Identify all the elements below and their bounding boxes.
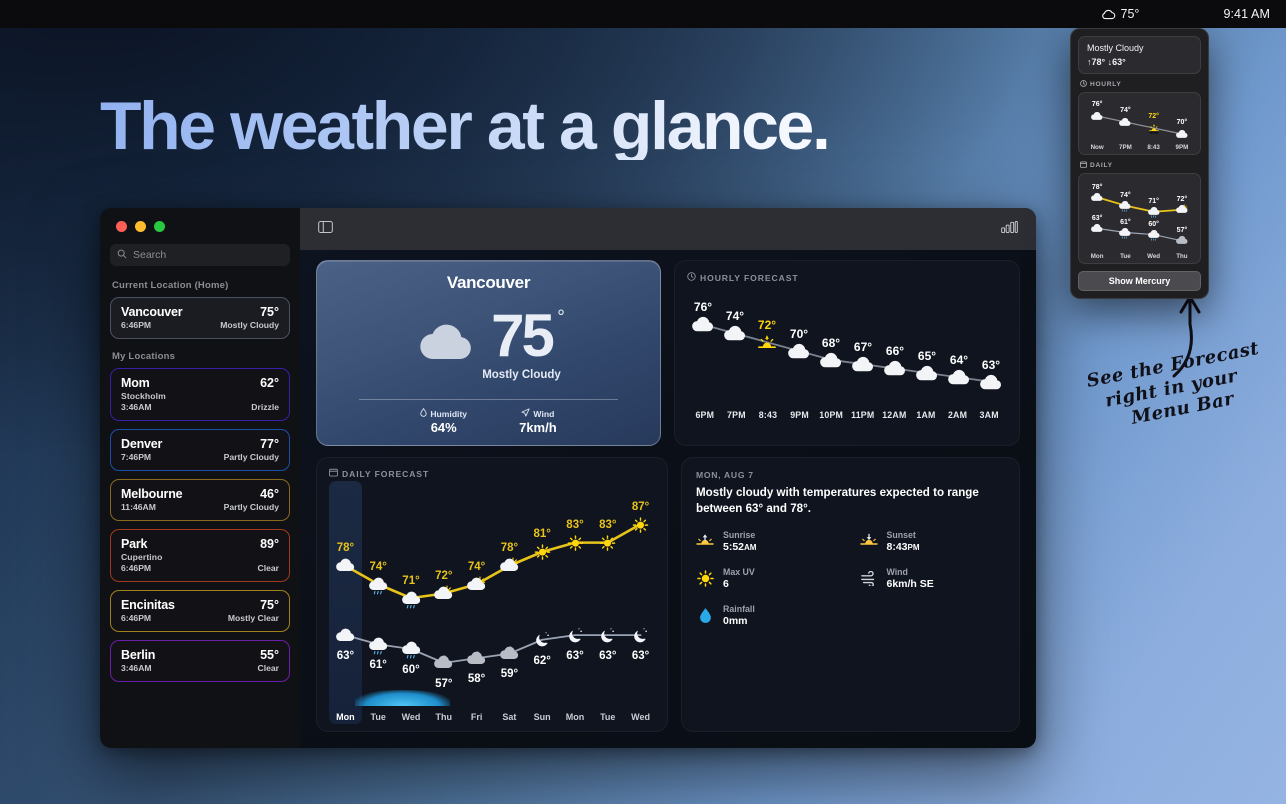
temperature-label: 70° xyxy=(1160,119,1204,126)
daily-axis-label[interactable]: Tue xyxy=(362,712,395,722)
location-condition: Mostly Clear xyxy=(228,613,279,623)
temperature-label: 78° xyxy=(489,542,529,554)
daily-axis-label[interactable]: Thu xyxy=(427,712,460,722)
widget-hourly-label: 9PM xyxy=(1168,144,1196,151)
detail-item-label: Sunrise xyxy=(723,530,756,540)
day-detail-panel: MON, AUG 7 Mostly cloudy with temperatur… xyxy=(681,457,1020,732)
weather-icon xyxy=(402,590,421,609)
weather-icon xyxy=(724,324,746,346)
widget-hourly-label: 7PM xyxy=(1111,144,1139,151)
location-condition: Clear xyxy=(258,663,280,673)
detail-item-label: Wind xyxy=(887,567,934,577)
weather-icon xyxy=(1176,129,1188,141)
weather-icon xyxy=(788,342,810,364)
location-condition: Partly Cloudy xyxy=(224,502,279,512)
weather-icon xyxy=(1091,192,1103,204)
widget-daily-card: 78°74°71°72°63°61°60°57° MonTueWedThu xyxy=(1078,173,1201,264)
hero-divider xyxy=(359,399,618,400)
weather-icon xyxy=(336,627,355,646)
sidebar-section-current: Current Location (Home) xyxy=(112,280,288,291)
weather-icon xyxy=(369,576,388,595)
wind-arrow-icon xyxy=(521,408,530,419)
page-headline: The weather at a glance. xyxy=(100,92,900,160)
hero-degree: ° xyxy=(557,308,565,327)
hourly-axis-label: 2AM xyxy=(942,410,974,420)
location-name: Encinitas xyxy=(121,598,175,612)
location-time: 3:46AM xyxy=(121,663,152,673)
daily-axis-label[interactable]: Sat xyxy=(493,712,526,722)
daily-axis-label[interactable]: Mon xyxy=(559,712,592,722)
temperature-label: 63° xyxy=(621,650,661,662)
detail-item-value: 6km/h SE xyxy=(887,578,934,590)
location-temp: 77° xyxy=(260,437,279,451)
detail-column-right: Sunset 8:43PM Wind 6km/h SE xyxy=(860,530,1006,627)
hourly-panel-title: HOURLY FORECAST xyxy=(687,272,1007,283)
location-name: Mom xyxy=(121,376,150,390)
sidebar-item-vancouver[interactable]: Vancouver 75° 6:46PM Mostly Cloudy xyxy=(110,297,290,339)
window-toolbar xyxy=(300,208,1036,250)
menubar-weather-widget: Mostly Cloudy ↑78° ↓63° HOURLY 76°74°72°… xyxy=(1070,28,1209,299)
hero-stat-wind: Wind 7km/h xyxy=(519,408,557,435)
hourly-axis-label: 8:43 xyxy=(752,410,784,420)
temperature-label: 78° xyxy=(325,542,365,554)
weather-icon xyxy=(852,355,874,377)
weather-icon xyxy=(566,627,585,646)
weather-icon xyxy=(948,368,970,390)
sidebar-section-mine: My Locations xyxy=(112,351,288,362)
temperature-label: 83° xyxy=(588,519,628,531)
cloud-icon xyxy=(1101,9,1116,20)
weather-icon xyxy=(533,631,552,650)
window-traffic-lights xyxy=(110,208,290,242)
location-name: Denver xyxy=(121,437,162,451)
location-time: 6:46PM xyxy=(121,613,151,623)
hero-condition: Mostly Cloudy xyxy=(482,369,561,381)
hero-city: Vancouver xyxy=(331,273,646,293)
temperature-label: 61° xyxy=(1111,219,1139,226)
location-temp: 46° xyxy=(260,487,279,501)
calendar-icon xyxy=(1080,161,1087,170)
sidebar-item-park[interactable]: Park 89° Cupertino 6:46PM Clear xyxy=(110,529,290,582)
daily-axis-label[interactable]: Fri xyxy=(460,712,493,722)
daily-axis-label[interactable]: Wed xyxy=(624,712,657,722)
daily-axis-label[interactable]: Wed xyxy=(395,712,428,722)
hourly-forecast-panel: HOURLY FORECAST 76°74°72°70°68°67°66°65°… xyxy=(674,260,1020,446)
daily-axis-label[interactable]: Sun xyxy=(526,712,559,722)
cloud-icon xyxy=(416,319,478,368)
daily-axis-label[interactable]: Tue xyxy=(591,712,624,722)
weather-icon xyxy=(467,576,486,595)
hero-stats: Humidity 64% Wind 7km/h xyxy=(331,408,646,435)
weather-icon xyxy=(1119,200,1131,212)
hero-temp-value: 75 xyxy=(491,302,552,369)
system-menu-bar: 75° 9:41 AM xyxy=(0,0,1286,28)
detail-item-max-uv: Max UV 6 xyxy=(696,567,842,590)
temperature-label: 71° xyxy=(1140,198,1168,205)
temperature-label: 74° xyxy=(1111,192,1139,199)
bar-chart-icon[interactable] xyxy=(1001,220,1018,238)
hero-stat-label: Wind xyxy=(533,409,554,419)
hero-stat-value: 64% xyxy=(420,420,467,435)
weather-icon xyxy=(884,359,906,381)
weather-icon xyxy=(980,373,1002,395)
widget-high-low: ↑78° ↓63° xyxy=(1087,57,1192,67)
widget-hourly-label: HOURLY xyxy=(1080,80,1201,89)
weather-icon xyxy=(598,534,617,553)
hourly-axis-labels: 6PM7PM8:439PM10PM11PM12AM1AM2AM3AM xyxy=(687,410,1007,420)
weather-icon xyxy=(631,627,650,646)
widget-hourly-label: Now xyxy=(1083,144,1111,151)
humidity-drop-icon xyxy=(420,408,427,419)
widget-daily-label: Thu xyxy=(1168,253,1196,260)
raindrop-icon xyxy=(696,606,714,624)
uv-sun-icon xyxy=(696,569,714,587)
temperature-label: 87° xyxy=(621,501,661,513)
location-time: 6:46PM xyxy=(121,563,151,573)
weather-icon xyxy=(692,315,714,337)
weather-app-window: Search Current Location (Home) Vancouver… xyxy=(100,208,1036,748)
hero-stat-humidity: Humidity 64% xyxy=(420,408,467,435)
daily-axis-label[interactable]: Mon xyxy=(329,712,362,722)
calendar-icon xyxy=(329,468,338,479)
menubar-temp: 75° xyxy=(1121,7,1140,21)
weather-icon xyxy=(1119,117,1131,129)
hourly-axis-label: 11PM xyxy=(847,410,879,420)
detail-date: MON, AUG 7 xyxy=(696,470,1005,480)
daily-forecast-panel: DAILY FORECAST 78°74°71°72°74°78°81°83°8… xyxy=(316,457,668,732)
hourly-axis-label: 3AM xyxy=(973,410,1005,420)
detail-item-label: Sunset xyxy=(887,530,920,540)
weather-icon xyxy=(1176,235,1188,247)
widget-condition: Mostly Cloudy xyxy=(1087,43,1192,53)
weather-icon xyxy=(500,557,519,576)
weather-icon xyxy=(1148,123,1160,135)
sidebar-item-melbourne[interactable]: Melbourne 46° 11:46AM Partly Cloudy xyxy=(110,479,290,521)
location-name: Melbourne xyxy=(121,487,182,501)
hourly-axis-label: 7PM xyxy=(721,410,753,420)
weather-icon xyxy=(598,627,617,646)
weather-icon xyxy=(336,557,355,576)
weather-icon xyxy=(467,650,486,669)
hero-stat-label: Humidity xyxy=(430,409,467,419)
sidebar-item-encinitas[interactable]: Encinitas 75° 6:46PM Mostly Clear xyxy=(110,590,290,632)
detail-item-value: 5:52AM xyxy=(723,541,756,553)
hourly-axis-label: 6PM xyxy=(689,410,721,420)
minimize-button[interactable] xyxy=(135,221,146,232)
hourly-axis-label: 1AM xyxy=(910,410,942,420)
temperature-label: 78° xyxy=(1083,184,1111,191)
temperature-label: 74° xyxy=(457,561,497,573)
weather-icon xyxy=(434,654,453,673)
weather-icon xyxy=(756,333,778,355)
widget-hourly-chart: 76°74°72°70° xyxy=(1083,98,1196,144)
widget-daily-label: DAILY xyxy=(1080,161,1201,170)
hero-stat-value: 7km/h xyxy=(519,420,557,435)
daily-chart: 78°74°71°72°74°78°81°83°83°87°63°61°60°5… xyxy=(329,481,657,724)
hero-temperature: 75° xyxy=(491,306,552,366)
widget-daily-labels: MonTueWedThu xyxy=(1083,253,1196,260)
temperature-label: 74° xyxy=(358,561,398,573)
weather-icon xyxy=(1091,223,1103,235)
widget-hourly-label: 8:43 xyxy=(1140,144,1168,151)
sunrise-icon xyxy=(696,532,714,550)
clock-icon xyxy=(1080,80,1087,89)
current-weather-card: Vancouver 75° Mostly Cloudy xyxy=(316,260,661,446)
detail-item-sunrise: Sunrise 5:52AM xyxy=(696,530,842,553)
menubar-weather-item[interactable]: 75° xyxy=(1101,7,1140,21)
location-time: 11:46AM xyxy=(121,502,156,512)
sunset-icon xyxy=(860,532,878,550)
location-name: Park xyxy=(121,537,147,551)
main-content: Vancouver 75° Mostly Cloudy xyxy=(300,208,1036,748)
detail-column-left: Sunrise 5:52AM Max UV 6 Rainfall 0mm xyxy=(696,530,842,627)
temperature-label: 60° xyxy=(391,664,431,676)
location-time: 3:46AM xyxy=(121,402,152,412)
widget-daily-label: Mon xyxy=(1083,253,1111,260)
location-time: 6:46PM xyxy=(121,320,151,330)
hourly-axis-label: 10PM xyxy=(815,410,847,420)
wind-icon xyxy=(860,569,878,587)
weather-icon xyxy=(1148,229,1160,241)
weather-icon xyxy=(1148,206,1160,218)
menubar-clock[interactable]: 9:41 AM xyxy=(1223,7,1270,21)
temperature-label: 57° xyxy=(1168,227,1196,234)
location-temp: 75° xyxy=(260,598,279,612)
temperature-label: 72° xyxy=(1168,196,1196,203)
detail-item-wind: Wind 6km/h SE xyxy=(860,567,1006,590)
sidebar-location-list: Mom 62° Stockholm 3:46AM Drizzle Denver … xyxy=(110,368,290,682)
location-temp: 75° xyxy=(260,305,279,319)
location-sublabel: Cupertino xyxy=(121,552,279,562)
sidebar-item-berlin[interactable]: Berlin 55° 3:46AM Clear xyxy=(110,640,290,682)
weather-icon xyxy=(1119,227,1131,239)
weather-icon xyxy=(434,585,453,604)
weather-icon xyxy=(533,543,552,562)
widget-summary-card: Mostly Cloudy ↑78° ↓63° xyxy=(1078,36,1201,74)
detail-item-value: 6 xyxy=(723,578,755,590)
close-button[interactable] xyxy=(116,221,127,232)
weather-icon xyxy=(1091,111,1103,123)
daily-panel-title: DAILY FORECAST xyxy=(329,468,657,479)
location-condition: Mostly Cloudy xyxy=(220,320,279,330)
widget-daily-label: Tue xyxy=(1111,253,1139,260)
temperature-label: 60° xyxy=(1140,221,1168,228)
daily-axis-labels: MonTueWedThuFriSatSunMonTueWed xyxy=(329,712,657,722)
search-placeholder: Search xyxy=(133,249,166,261)
weather-icon xyxy=(631,516,650,535)
clock-icon xyxy=(687,272,696,283)
widget-daily-chart: 78°74°71°72°63°61°60°57° xyxy=(1083,179,1196,253)
detail-item-rainfall: Rainfall 0mm xyxy=(696,604,842,627)
temperature-label: 63° xyxy=(1083,215,1111,222)
temperature-label: 59° xyxy=(489,668,529,680)
weather-icon xyxy=(402,640,421,659)
detail-item-value: 0mm xyxy=(723,615,755,627)
temperature-label: 63° xyxy=(969,358,1013,372)
weather-icon xyxy=(1176,204,1188,216)
detail-item-sunset: Sunset 8:43PM xyxy=(860,530,1006,553)
location-condition: Drizzle xyxy=(251,402,279,412)
search-input[interactable]: Search xyxy=(110,244,290,266)
widget-hourly-card: 76°74°72°70° Now7PM8:439PM xyxy=(1078,92,1201,155)
widget-hourly-labels: Now7PM8:439PM xyxy=(1083,144,1196,151)
sidebar: Search Current Location (Home) Vancouver… xyxy=(100,208,300,748)
sidebar-item-mom[interactable]: Mom 62° Stockholm 3:46AM Drizzle xyxy=(110,368,290,421)
sidebar-item-denver[interactable]: Denver 77° 7:46PM Partly Cloudy xyxy=(110,429,290,471)
weather-icon xyxy=(916,364,938,386)
location-condition: Partly Cloudy xyxy=(224,452,279,462)
weather-icon xyxy=(820,351,842,373)
detail-stats-grid: Sunrise 5:52AM Max UV 6 Rainfall 0mm Sun… xyxy=(696,530,1005,627)
hourly-axis-label: 9PM xyxy=(784,410,816,420)
detail-item-label: Max UV xyxy=(723,567,755,577)
location-time: 7:46PM xyxy=(121,452,151,462)
sidebar-toggle-icon[interactable] xyxy=(318,220,333,238)
location-name: Berlin xyxy=(121,648,155,662)
location-temp: 89° xyxy=(260,537,279,551)
search-icon xyxy=(117,246,127,264)
location-sublabel: Stockholm xyxy=(121,391,279,401)
location-temp: 55° xyxy=(260,648,279,662)
detail-summary: Mostly cloudy with temperatures expected… xyxy=(696,485,996,516)
widget-daily-label: Wed xyxy=(1140,253,1168,260)
location-temp: 62° xyxy=(260,376,279,390)
weather-icon xyxy=(369,636,388,655)
detail-item-label: Rainfall xyxy=(723,604,755,614)
hourly-chart: 76°74°72°70°68°67°66°65°64°63° xyxy=(687,285,1007,409)
zoom-button[interactable] xyxy=(154,221,165,232)
weather-icon xyxy=(566,534,585,553)
detail-item-value: 8:43PM xyxy=(887,541,920,553)
location-name: Vancouver xyxy=(121,305,182,319)
hourly-axis-label: 12AM xyxy=(879,410,911,420)
weather-icon xyxy=(500,645,519,664)
location-condition: Clear xyxy=(258,563,280,573)
show-mercury-button[interactable]: Show Mercury xyxy=(1078,271,1201,291)
